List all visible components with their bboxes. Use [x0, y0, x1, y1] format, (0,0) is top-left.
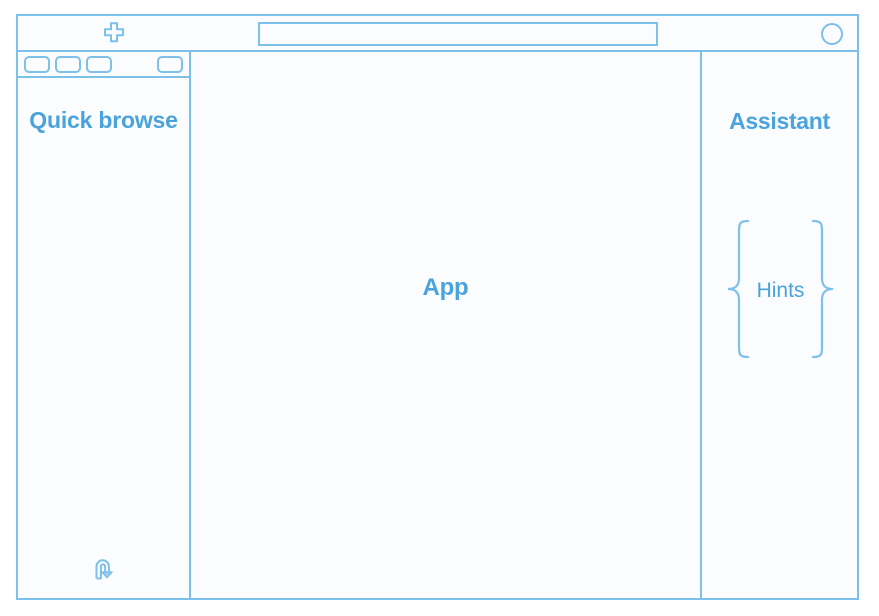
left-brace-icon [725, 218, 751, 365]
sidebar-title: Quick browse [18, 106, 189, 135]
wireframe-root: Quick browse App [0, 0, 879, 616]
browser-window: Quick browse App [16, 14, 859, 600]
window-body: Quick browse App [18, 52, 857, 598]
address-bar-input[interactable] [258, 22, 658, 46]
sidebar-footer [18, 553, 189, 588]
quick-browse-sidebar: Quick browse [18, 52, 191, 598]
u-turn-arrow-icon[interactable] [89, 553, 119, 588]
assistant-panel: Assistant Hints [702, 52, 857, 598]
hints-block: Hints [710, 220, 851, 362]
assistant-title: Assistant [702, 108, 857, 135]
app-canvas[interactable]: App [191, 52, 702, 598]
app-title: App [191, 274, 700, 302]
hints-label: Hints [751, 279, 811, 303]
sidebar-tab-bar [18, 52, 189, 78]
sidebar-item-tab-chip-1[interactable] [24, 56, 50, 73]
right-brace-icon [810, 218, 836, 365]
sidebar-content: Quick browse [18, 78, 189, 598]
sidebar-item-tab-chip-3[interactable] [86, 56, 112, 73]
sidebar-item-tab-chip-new[interactable] [157, 56, 183, 73]
profile-circle-icon[interactable] [821, 23, 843, 45]
sidebar-item-tab-chip-2[interactable] [55, 56, 81, 73]
plus-icon [101, 20, 127, 51]
add-tab-button[interactable] [98, 23, 130, 47]
browser-chrome-bar [18, 16, 857, 52]
